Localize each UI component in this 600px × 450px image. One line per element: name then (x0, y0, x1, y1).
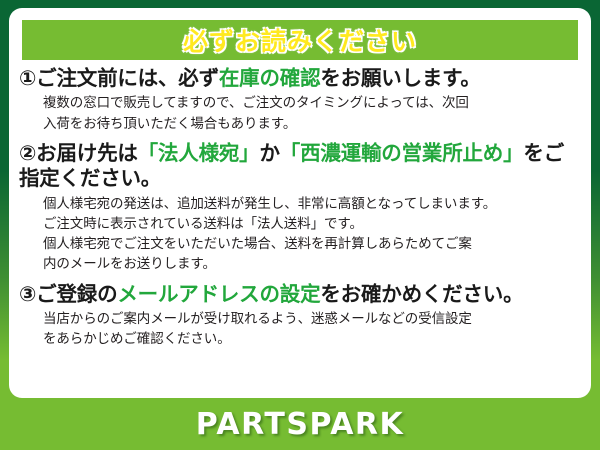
notice-item-2-body-line-4: 内のメールをお送りします。 (43, 254, 583, 274)
notice-item-3-text-b: をお確かめください。 (320, 282, 523, 306)
notice-item-1-body-line-2: 入荷をお待ち頂いただく場合もあります。 (43, 114, 583, 134)
notice-item-3: ③ご登録のメールアドレスの設定をお確かめください。 当店からのご案内メールが受け… (9, 282, 591, 350)
white-content-panel: 必ずお読みください ①ご注文前には、必ず在庫の確認をお願いします。 複数の窓口で… (9, 8, 591, 398)
notice-item-1: ①ご注文前には、必ず在庫の確認をお願いします。 複数の窓口で販売してますので、ご… (9, 66, 591, 134)
notice-card: 必ずお読みください ①ご注文前には、必ず在庫の確認をお願いします。 複数の窓口で… (0, 0, 600, 450)
brand-logo: PARTSPARK (196, 407, 405, 442)
notice-item-2-body: 個人様宅宛の発送は、追加送料が発生し、非常に高額となってしまいます。 ご注文時に… (43, 194, 583, 275)
notice-item-1-headline: ①ご注文前には、必ず在庫の確認をお願いします。 (19, 66, 583, 91)
notice-item-1-body-line-1: 複数の窓口で販売してますので、ご注文のタイミングによっては、次回 (43, 93, 583, 113)
notice-item-2-body-line-2: ご注文時に表示されている送料は「法人送料」です。 (43, 214, 583, 234)
notice-item-1-number: ① (19, 66, 36, 90)
notice-item-2-highlight-2: 「西濃運輸の営業所止め」 (280, 141, 524, 165)
notice-item-1-text-a: ご注文前には、必ず (36, 66, 219, 90)
notice-item-1-body: 複数の窓口で販売してますので、ご注文のタイミングによっては、次回 入荷をお待ち頂… (43, 93, 583, 134)
notice-item-3-body-line-1: 当店からのご案内メールが受け取れるよう、迷惑メールなどの受信設定 (43, 309, 583, 329)
notice-item-3-number: ③ (19, 282, 36, 306)
notice-item-2: ②お届け先は「法人様宛」か「西濃運輸の営業所止め」をご指定ください。 個人様宅宛… (9, 141, 591, 275)
notice-item-3-headline: ③ご登録のメールアドレスの設定をお確かめください。 (19, 282, 583, 307)
notice-item-2-number: ② (19, 141, 36, 165)
header-banner: 必ずお読みください (22, 20, 578, 60)
notice-item-1-highlight: 在庫の確認 (219, 66, 321, 90)
notice-item-2-highlight-1: 「法人様宛」 (138, 141, 260, 165)
notice-item-1-text-b: をお願いします。 (320, 66, 480, 90)
footer: PARTSPARK (0, 398, 600, 450)
notice-item-2-body-line-3: 個人様宅宛でご注文をいただいた場合、送料を再計算しあらためてご案 (43, 234, 583, 254)
notice-item-list: ①ご注文前には、必ず在庫の確認をお願いします。 複数の窓口で販売してますので、ご… (9, 66, 591, 350)
notice-item-2-text-b: か (259, 141, 279, 165)
notice-item-3-highlight: メールアドレスの設定 (117, 282, 320, 306)
notice-item-2-text-a: お届け先は (36, 141, 138, 165)
notice-item-2-headline: ②お届け先は「法人様宛」か「西濃運輸の営業所止め」をご指定ください。 (19, 141, 583, 192)
banner-title: 必ずお読みください (183, 22, 417, 58)
notice-item-3-text-a: ご登録の (36, 282, 117, 306)
notice-item-2-body-line-1: 個人様宅宛の発送は、追加送料が発生し、非常に高額となってしまいます。 (43, 194, 583, 214)
notice-item-3-body: 当店からのご案内メールが受け取れるよう、迷惑メールなどの受信設定 をあらかじめご… (43, 309, 583, 350)
notice-item-3-body-line-2: をあらかじめご確認ください。 (43, 329, 583, 349)
